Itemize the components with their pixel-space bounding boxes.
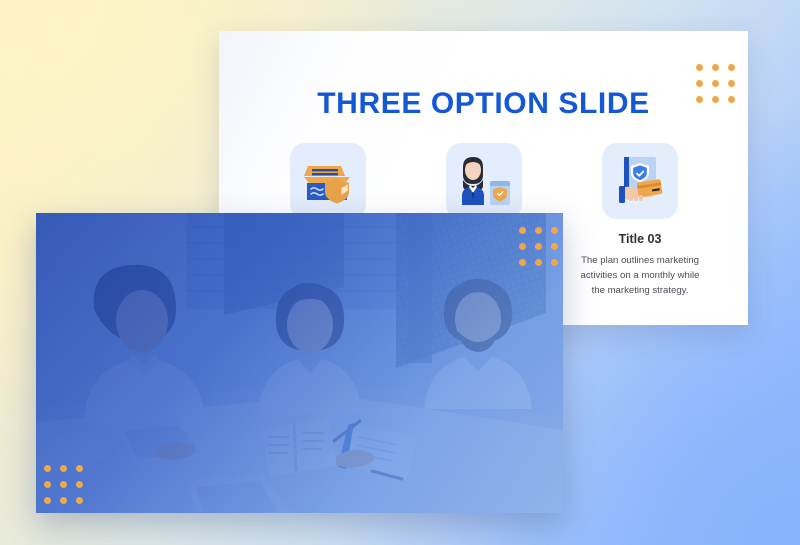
option-desc-3: The plan outlines marketing activities o…	[565, 254, 715, 299]
slide-preview-canvas: THREE OPTION SLIDE	[0, 0, 800, 545]
team-meeting-photo	[36, 213, 563, 513]
option-item-3[interactable]: Title 03 The plan outlines marketing act…	[565, 143, 715, 299]
ship-shield-icon	[290, 143, 366, 219]
dot-grid-icon-cover-bottom	[44, 465, 83, 504]
hand-credit-card-shield-icon	[602, 143, 678, 219]
agent-woman-icon	[446, 143, 522, 219]
option-title-3: Title 03	[565, 232, 715, 246]
dot-grid-icon	[696, 64, 735, 103]
blue-duotone-overlay	[36, 213, 563, 513]
insurance-cover-slide-card[interactable]: INSURANCE	[36, 213, 563, 513]
page-title: THREE OPTION SLIDE	[219, 87, 748, 121]
dot-grid-icon-cover-top	[519, 227, 558, 266]
